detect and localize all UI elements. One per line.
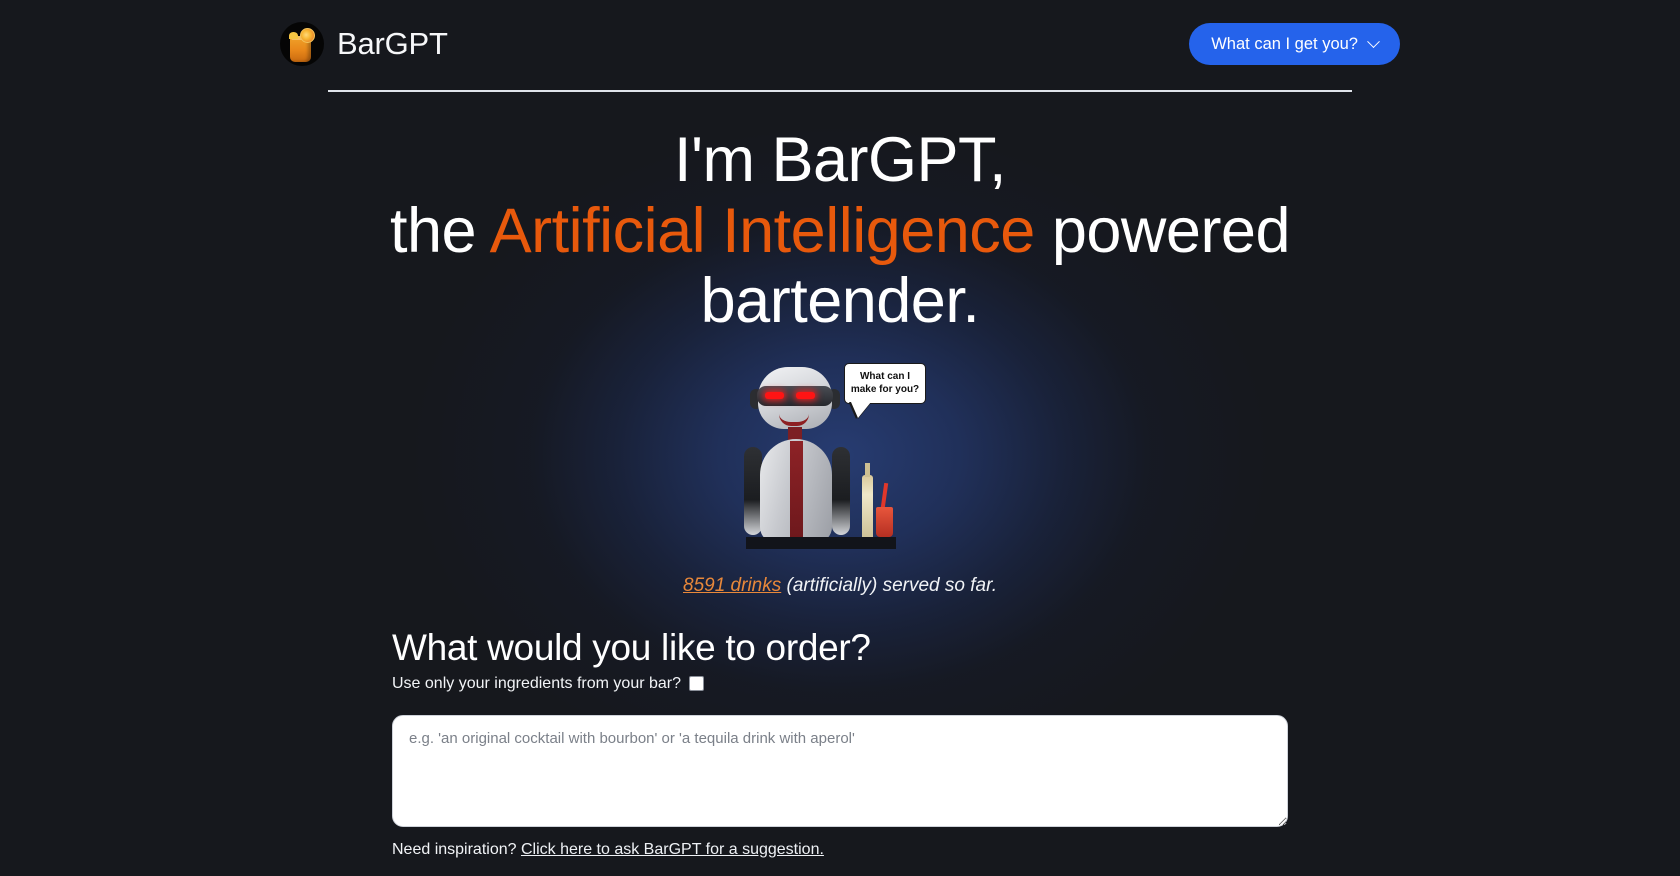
drinks-count-link[interactable]: 8591 drinks bbox=[683, 575, 781, 596]
speech-bubble-tail bbox=[851, 402, 871, 418]
headline-line-1: I'm BarGPT, bbox=[674, 125, 1006, 195]
drinks-count-suffix: (artificially) served so far. bbox=[781, 575, 997, 596]
drinks-served-counter: 8591 drinks (artificially) served so far… bbox=[280, 575, 1400, 597]
order-form: What would you like to order? Use only y… bbox=[392, 627, 1288, 876]
headline-line-2-suffix: powered bbox=[1035, 196, 1290, 266]
brand-name: BarGPT bbox=[337, 26, 448, 62]
headline-line-2-prefix: the bbox=[390, 196, 490, 266]
ingredients-option-row: Use only your ingredients from your bar? bbox=[392, 675, 1288, 693]
order-input[interactable] bbox=[392, 715, 1288, 827]
order-heading: What would you like to order? bbox=[392, 627, 1288, 669]
ingredients-label: Use only your ingredients from your bar? bbox=[392, 675, 681, 693]
inspiration-row: Need inspiration? Click here to ask BarG… bbox=[392, 841, 1288, 859]
what-can-i-get-you-button[interactable]: What can I get you? bbox=[1189, 23, 1400, 65]
page-title: I'm BarGPT, the Artificial Intelligence … bbox=[280, 125, 1400, 337]
hero-section: I'm BarGPT, the Artificial Intelligence … bbox=[280, 125, 1400, 876]
use-only-my-ingredients-checkbox[interactable] bbox=[689, 676, 704, 691]
headline-line-3: bartender. bbox=[701, 266, 980, 336]
cocktail-glass-icon bbox=[280, 22, 324, 66]
headline-accent: Artificial Intelligence bbox=[490, 196, 1035, 266]
header-divider bbox=[328, 90, 1352, 92]
robot-bartender-icon: What can I make for you? bbox=[740, 359, 940, 555]
ask-for-suggestion-link[interactable]: Click here to ask BarGPT for a suggestio… bbox=[521, 841, 824, 858]
chevron-down-icon bbox=[1367, 35, 1380, 48]
cta-button-label: What can I get you? bbox=[1211, 35, 1358, 54]
speech-bubble-text: What can I make for you? bbox=[851, 371, 919, 396]
page-root: BarGPT What can I get you? I'm BarGPT, t… bbox=[0, 0, 1680, 876]
speech-bubble: What can I make for you? bbox=[844, 363, 926, 404]
site-header: BarGPT What can I get you? bbox=[280, 0, 1400, 66]
brand[interactable]: BarGPT bbox=[280, 22, 448, 66]
inspiration-prefix: Need inspiration? bbox=[392, 841, 521, 858]
